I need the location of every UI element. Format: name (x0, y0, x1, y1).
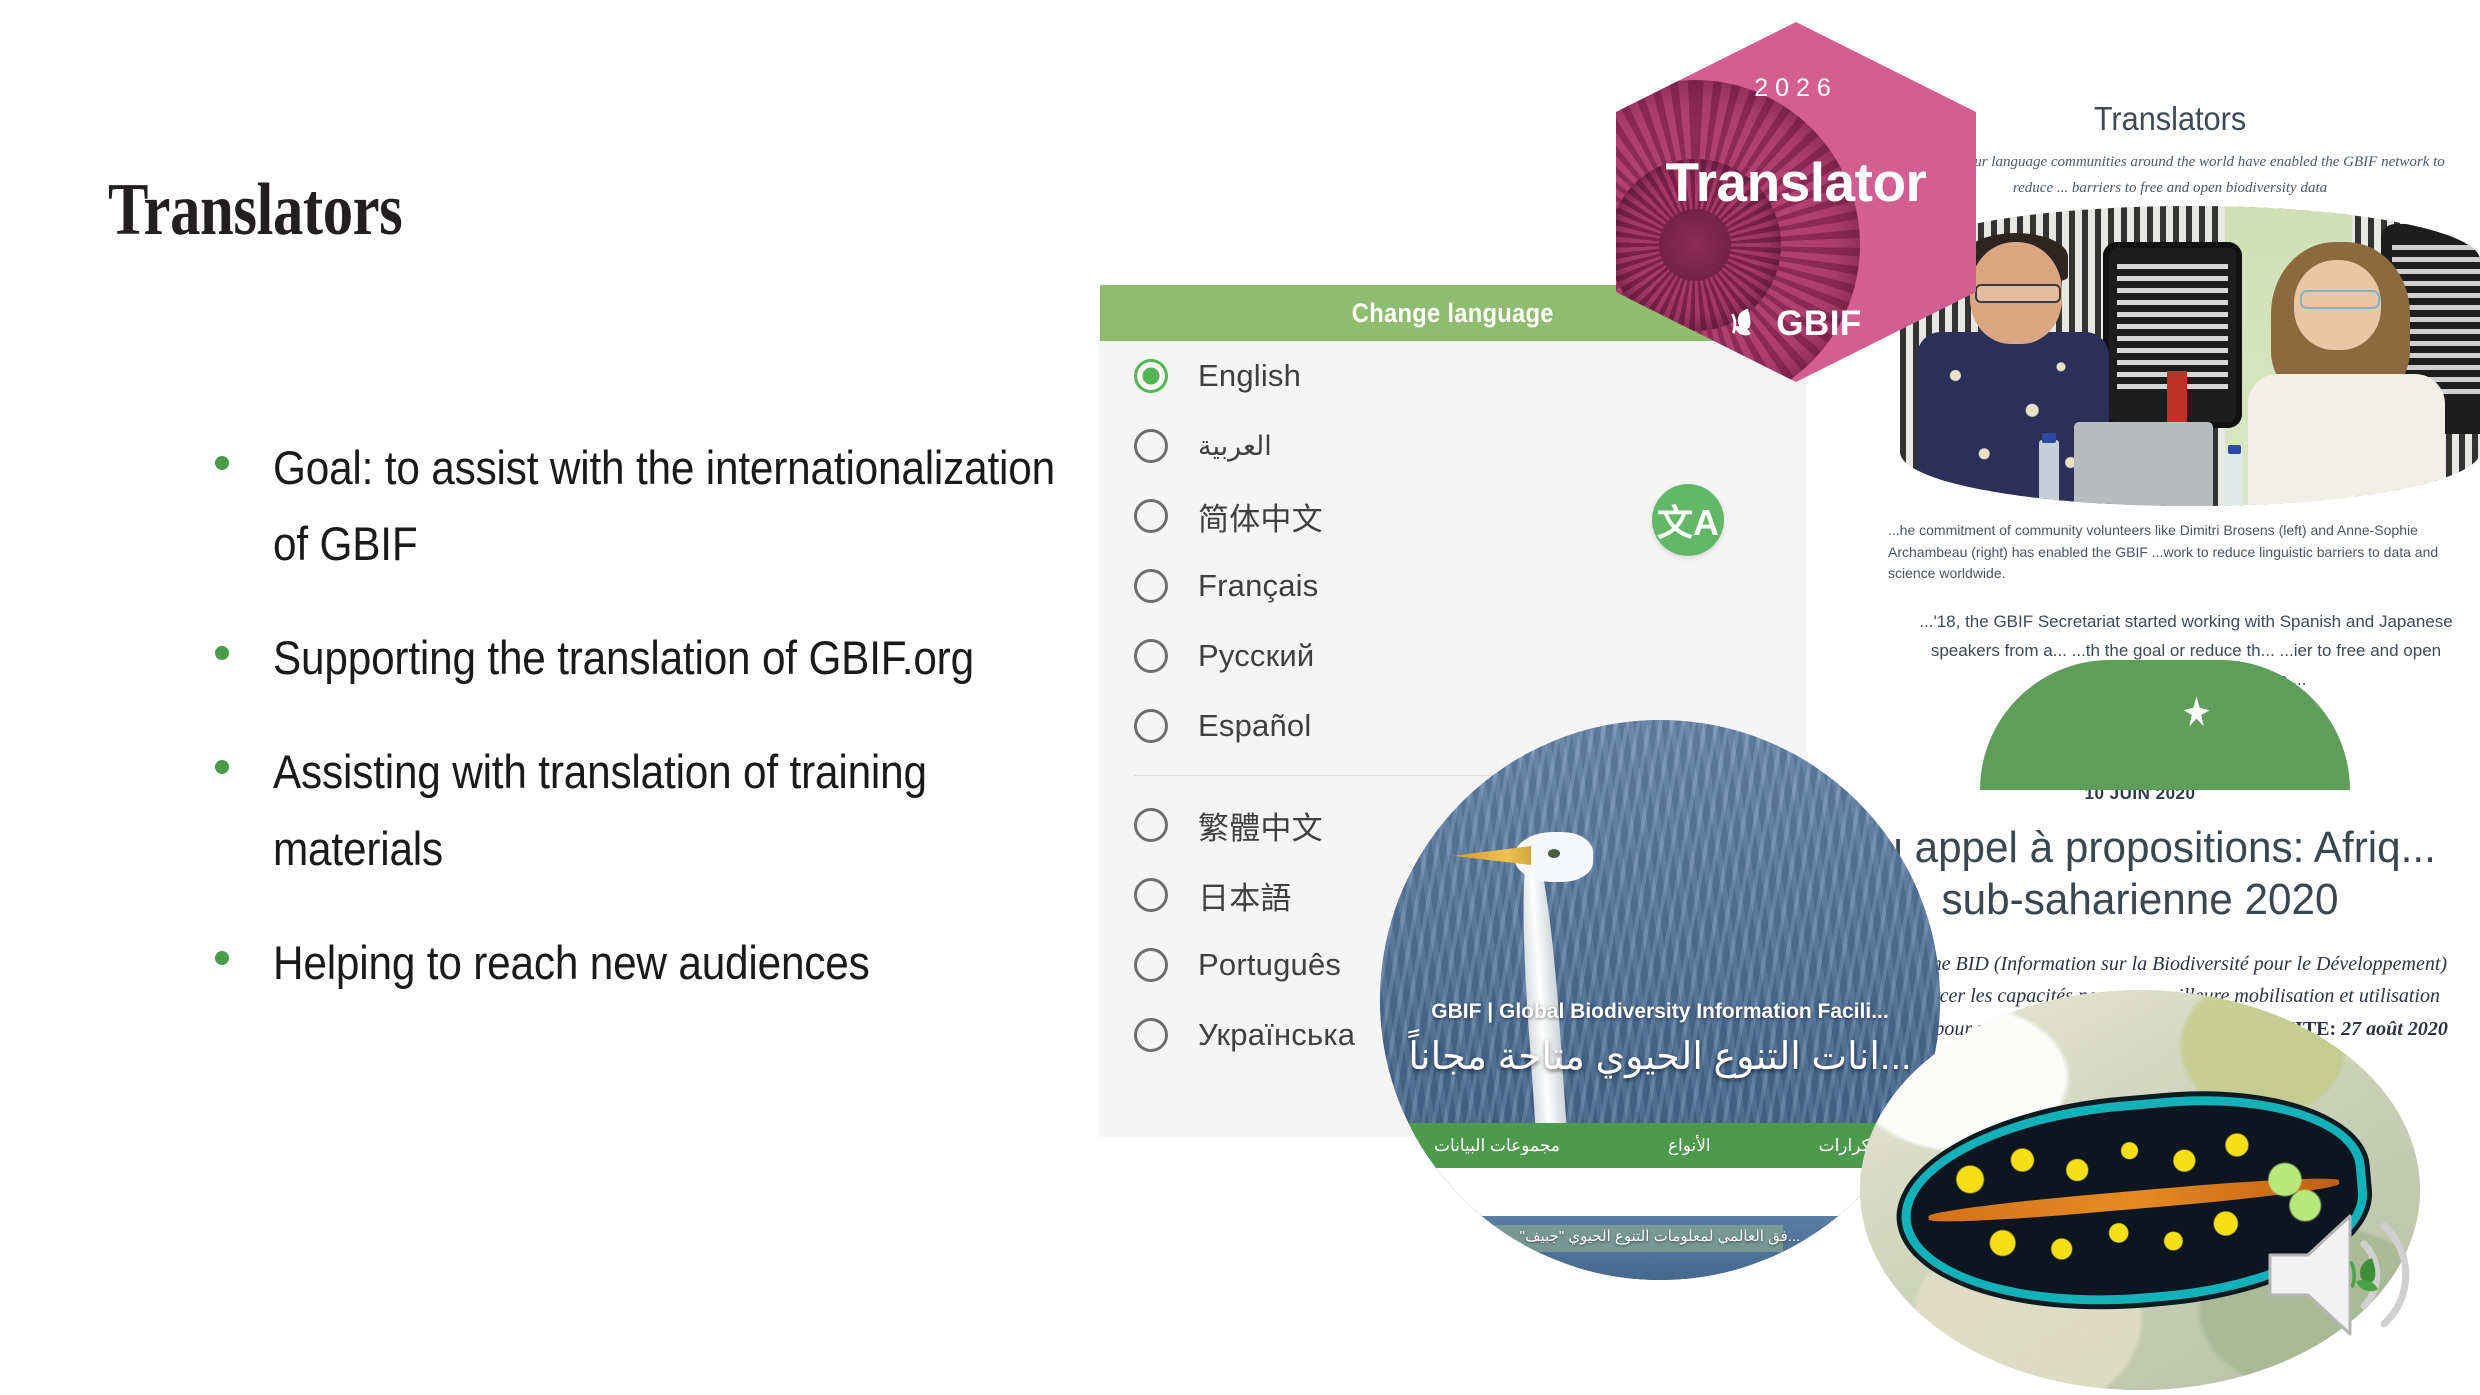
radio-icon[interactable] (1134, 1018, 1168, 1052)
language-label: 繁體中文 (1198, 803, 1323, 848)
language-panel-title: Change language (1352, 298, 1554, 329)
bullet-text: Assisting with translation of training m… (273, 734, 1058, 886)
glasses-icon (2300, 290, 2379, 309)
bullet-text: Supporting the translation of GBIF.org (273, 620, 1058, 696)
badge-role: Translator (1616, 150, 1976, 214)
page-title: Translators (108, 168, 402, 253)
radio-icon[interactable] (1134, 639, 1168, 673)
bullet-dot-icon (215, 456, 229, 470)
slide-canvas: Translators Goal: to assist with the int… (0, 0, 2480, 1395)
arabic-nav-item[interactable]: مجموعات البيانات (1434, 1136, 1560, 1156)
arabic-nav-item[interactable]: الأنواع (1668, 1136, 1711, 1156)
translate-glyph: 文A (1657, 494, 1719, 546)
radio-icon[interactable] (1134, 878, 1168, 912)
bullet-text: Helping to reach new audiences (273, 925, 1058, 1001)
image-collage: Change language English العربية 简体中文 F (1100, 0, 2480, 1395)
language-label: 简体中文 (1198, 494, 1323, 539)
bullet-text: Goal: to assist with the internationaliz… (273, 430, 1058, 582)
bullet-dot-icon (215, 646, 229, 660)
language-label: Português (1198, 947, 1341, 983)
radio-icon[interactable] (1134, 808, 1168, 842)
water-bottle (2039, 440, 2059, 506)
bullet-dot-icon (215, 760, 229, 774)
language-option-french[interactable]: Français (1100, 551, 1806, 621)
arabic-brandline: GBIF | Global Biodiversity Information F… (1380, 1000, 1940, 1024)
list-item: Goal: to assist with the internationaliz… (215, 430, 1145, 582)
language-label: Français (1198, 568, 1318, 604)
glasses-icon (1975, 284, 2060, 303)
arabic-headline: ...انات التنوع الحيوي متاحة مجاناً (1380, 1034, 1940, 1079)
arabic-footer: ...فق العالمي لمعلومات التنوع الحيوي "جب… (1380, 1216, 1940, 1280)
list-item: Helping to reach new audiences (215, 925, 1145, 1001)
white-band (1380, 1168, 1940, 1216)
language-label: Español (1198, 708, 1311, 744)
list-item: Assisting with translation of training m… (215, 734, 1145, 886)
radio-icon[interactable] (1134, 499, 1168, 533)
language-label: Русский (1198, 638, 1314, 674)
radio-icon[interactable] (1134, 709, 1168, 743)
badge-year: 2026 (1616, 74, 1976, 103)
egret-eye (1548, 849, 1560, 858)
language-label: العربية (1198, 431, 1272, 462)
speaker-icon[interactable] (2260, 1200, 2440, 1350)
language-option-russian[interactable]: Русский (1100, 621, 1806, 691)
language-label: English (1198, 358, 1301, 394)
language-option-arabic[interactable]: العربية (1100, 411, 1806, 481)
translate-icon[interactable]: 文A (1652, 484, 1724, 556)
person-right-body (2248, 374, 2445, 506)
radio-icon[interactable] (1134, 359, 1168, 393)
radio-icon[interactable] (1134, 569, 1168, 603)
photo-background (1900, 206, 2480, 506)
arabic-footer-text: ...فق العالمي لمعلومات التنوع الحيوي "جب… (1380, 1227, 1940, 1245)
bullet-dot-icon (215, 951, 229, 965)
workshop-photo (1900, 206, 2480, 506)
water-bottle (2225, 452, 2244, 506)
laptop (2074, 422, 2213, 506)
gbif-leaf-icon (1730, 307, 1766, 341)
language-label: 日本語 (1198, 873, 1292, 918)
badge-brand-text: GBIF (1776, 304, 1862, 344)
language-option-english[interactable]: English (1100, 341, 1806, 411)
photo-caption: ...he commitment of community volunteers… (1888, 520, 2468, 585)
arabic-nav-bar: التكرارات الأنواع مجموعات البيانات (1380, 1123, 1940, 1169)
bullet-list: Goal: to assist with the internationaliz… (215, 430, 1145, 1039)
radio-icon[interactable] (1134, 429, 1168, 463)
radio-icon[interactable] (1134, 948, 1168, 982)
list-item: Supporting the translation of GBIF.org (215, 620, 1145, 696)
language-label: Українська (1198, 1017, 1355, 1053)
arabic-gbif-homepage-circle: GBIF | Global Biodiversity Information F… (1380, 720, 1940, 1280)
